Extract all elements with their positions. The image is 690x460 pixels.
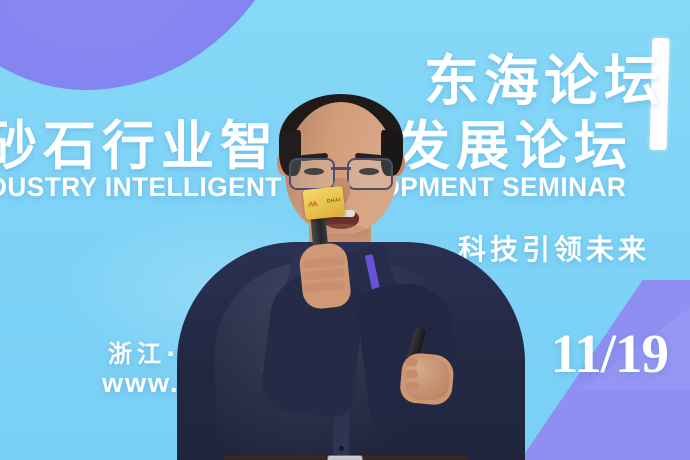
knuckle	[405, 370, 418, 378]
glasses-bridge	[331, 167, 351, 170]
knuckle	[406, 382, 419, 390]
belt-buckle	[327, 455, 363, 460]
microphone-flag-logo: DHAI	[303, 186, 346, 220]
lens-left	[289, 158, 335, 190]
speaker-figure: 砂石行业智能化发展论坛 杨会员 参会代表 DHAI	[205, 58, 495, 460]
wave-logo-icon	[308, 199, 324, 209]
microphone-flag-text: DHAI	[327, 197, 341, 204]
photo-scene: 东海论坛 砂石行业智能化发展论坛 DUSTRY INTELLIGENT DEVE…	[0, 0, 690, 460]
backdrop-date: 11/19	[551, 322, 668, 385]
lens-right	[347, 158, 393, 190]
knuckle	[405, 358, 418, 366]
